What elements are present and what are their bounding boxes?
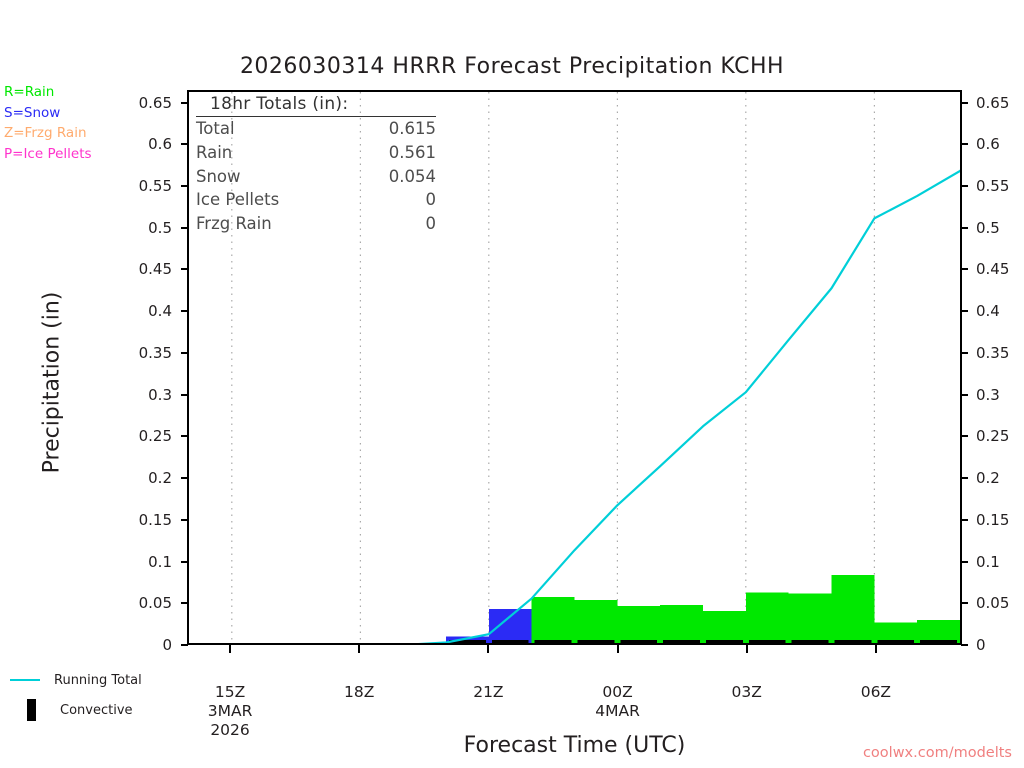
y-axis-ticks-right: 00.050.10.150.20.250.30.350.40.450.50.55…: [976, 90, 1024, 645]
y-tick-label-left: 0.55: [139, 177, 172, 195]
totals-value: 0: [426, 213, 437, 236]
y-tick-label-right: 0.2: [976, 469, 1000, 487]
legend-item-ice-pellets: P=Ice Pellets: [4, 144, 92, 165]
totals-row-total: Total 0.615: [196, 117, 436, 141]
y-tick-label-left: 0.45: [139, 260, 172, 278]
y-tick-label-left: 0.4: [148, 302, 172, 320]
totals-row-frzg-rain: Frzg Rain 0: [196, 212, 436, 236]
totals-row-ice-pellets: Ice Pellets 0: [196, 188, 436, 212]
x-tick-label: 06Z: [861, 683, 891, 702]
x-tick-label: 03Z: [732, 683, 762, 702]
y-tick-label-left: 0.5: [148, 219, 172, 237]
totals-label: Total: [196, 118, 235, 141]
y-tick-label-left: 0.6: [148, 135, 172, 153]
y-tickmark: [961, 394, 968, 396]
y-tick-label-left: 0.1: [148, 553, 172, 571]
totals-label: Ice Pellets: [196, 189, 279, 212]
y-tickmark: [961, 561, 968, 563]
legend-item-snow: S=Snow: [4, 103, 92, 124]
totals-row-snow: Snow 0.054: [196, 165, 436, 189]
legend-item-running-total: Running Total: [10, 665, 142, 695]
y-tick-label-left: 0.05: [139, 594, 172, 612]
legend-item-frzg-rain: Z=Frzg Rain: [4, 123, 92, 144]
y-tick-label-left: 0.35: [139, 344, 172, 362]
totals-value: 0.054: [389, 166, 436, 189]
totals-value: 0.615: [389, 118, 436, 141]
x-tick-label: 21Z: [473, 683, 503, 702]
y-tick-label-right: 0.4: [976, 302, 1000, 320]
y-tick-label-right: 0.05: [976, 594, 1009, 612]
y-tickmark: [961, 310, 968, 312]
y-tickmark: [961, 268, 968, 270]
y-tickmark: [961, 435, 968, 437]
legend-label: Running Total: [54, 673, 142, 688]
totals-row-rain: Rain 0.561: [196, 141, 436, 165]
y-tickmark: [961, 602, 968, 604]
y-tickmark: [961, 352, 968, 354]
y-axis-tickmarks-right: [961, 90, 969, 645]
series-legend: Running Total Convective: [10, 665, 142, 725]
y-tick-label-right: 0.15: [976, 511, 1009, 529]
y-tickmark: [961, 102, 968, 104]
y-tick-label-right: 0.55: [976, 177, 1009, 195]
x-tickmark: [358, 645, 360, 653]
y-tick-label-right: 0.25: [976, 427, 1009, 445]
y-tickmark: [961, 185, 968, 187]
y-tick-label-right: 0.6: [976, 135, 1000, 153]
y-tick-label-left: 0.3: [148, 386, 172, 404]
y-axis-label: Precipitation (in): [40, 183, 65, 583]
totals-value: 0.561: [389, 142, 436, 165]
page-title: 2026030314 HRRR Forecast Precipitation K…: [0, 54, 1024, 79]
totals-label: Snow: [196, 166, 241, 189]
totals-label: Rain: [196, 142, 232, 165]
x-tickmark: [875, 645, 877, 653]
x-tick-label: 18Z: [344, 683, 374, 702]
x-tick-label: 15Z3MAR2026: [208, 683, 253, 740]
y-tick-label-right: 0.3: [976, 386, 1000, 404]
y-tick-label-left: 0.2: [148, 469, 172, 487]
watermark: coolwx.com/modelts: [0, 745, 1012, 761]
y-tick-label-right: 0.5: [976, 219, 1000, 237]
precip-type-legend: R=Rain S=Snow Z=Frzg Rain P=Ice Pellets: [4, 82, 92, 164]
y-tick-label-right: 0.35: [976, 344, 1009, 362]
legend-label: Convective: [60, 703, 133, 718]
y-tick-label-left: 0.15: [139, 511, 172, 529]
y-tick-label-right: 0.45: [976, 260, 1009, 278]
totals-box: 18hr Totals (in): Total 0.615 Rain 0.561…: [196, 94, 436, 236]
y-tick-label-left: 0.65: [139, 94, 172, 112]
x-tickmark: [746, 645, 748, 653]
y-axis-ticks-left: 00.050.10.150.20.250.30.350.40.450.50.55…: [110, 90, 172, 645]
x-tick-label: 00Z4MAR: [595, 683, 640, 721]
x-axis-ticks: 15Z3MAR202618Z21Z00Z4MAR03Z06Z: [187, 683, 962, 738]
x-tickmark: [487, 645, 489, 653]
legend-item-convective: Convective: [10, 695, 142, 725]
x-axis-tickmarks: [187, 645, 962, 654]
y-tickmark: [961, 477, 968, 479]
y-tick-label-left: 0.25: [139, 427, 172, 445]
y-tickmark: [961, 227, 968, 229]
y-tickmark: [961, 519, 968, 521]
totals-value: 0: [426, 189, 437, 212]
line-swatch-icon: [10, 679, 40, 681]
y-tick-label-right: 0.65: [976, 94, 1009, 112]
y-tick-label-left: 0: [162, 636, 172, 654]
legend-item-rain: R=Rain: [4, 82, 92, 103]
y-tickmark: [961, 143, 968, 145]
y-tickmark: [961, 644, 968, 646]
totals-label: Frzg Rain: [196, 213, 272, 236]
bar-swatch-icon: [27, 699, 36, 721]
y-tick-label-right: 0: [976, 636, 986, 654]
x-tickmark: [229, 645, 231, 653]
x-tickmark: [617, 645, 619, 653]
y-tick-label-right: 0.1: [976, 553, 1000, 571]
totals-heading: 18hr Totals (in):: [196, 94, 436, 117]
